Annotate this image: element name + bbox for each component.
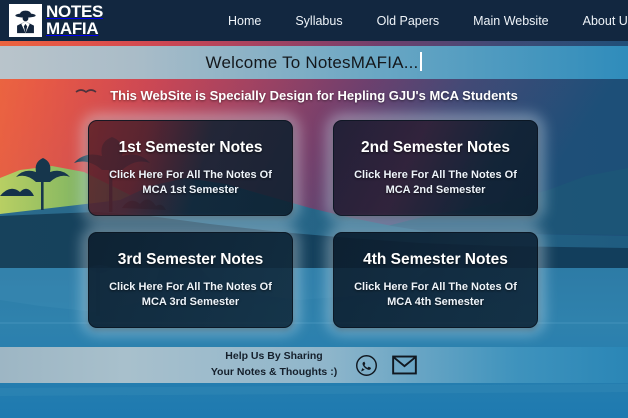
footer: Help Us By Sharing Your Notes & Thoughts…: [0, 347, 628, 383]
welcome-headline: Welcome To NotesMAFIA...: [206, 52, 423, 73]
card-title: 3rd Semester Notes: [118, 251, 264, 269]
footer-text-line2: Your Notes & Thoughts :): [211, 365, 337, 381]
page-root: NOTES MAFIA Home Syllabus Old Papers Mai…: [0, 0, 628, 418]
semester-card-grid: 1st Semester Notes Click Here For All Th…: [88, 120, 543, 328]
card-description: Click Here For All The Notes Of MCA 2nd …: [346, 168, 526, 198]
card-description: Click Here For All The Notes Of MCA 4th …: [346, 280, 526, 310]
card-description: Click Here For All The Notes Of MCA 3rd …: [101, 280, 281, 310]
nav-item-syllabus[interactable]: Syllabus: [295, 14, 342, 28]
card-description: Click Here For All The Notes Of MCA 1st …: [101, 168, 281, 198]
nav-item-home[interactable]: Home: [228, 14, 261, 28]
nav-item-main-website[interactable]: Main Website: [473, 14, 549, 28]
nav-item-old-papers[interactable]: Old Papers: [377, 14, 440, 28]
footer-social-icons: [355, 354, 417, 377]
whatsapp-icon[interactable]: [355, 354, 378, 377]
brand-wordmark: NOTES MAFIA: [46, 4, 103, 37]
hero-subtitle: This WebSite is Specially Design for Hep…: [0, 88, 628, 103]
card-title: 2nd Semester Notes: [361, 139, 510, 157]
brand-logo[interactable]: NOTES MAFIA: [9, 4, 103, 37]
semester-card-3[interactable]: 3rd Semester Notes Click Here For All Th…: [88, 232, 293, 328]
nav-item-about-us[interactable]: About Us: [583, 14, 628, 28]
brand-line-mafia: MAFIA: [46, 21, 103, 37]
navbar: NOTES MAFIA Home Syllabus Old Papers Mai…: [0, 0, 628, 41]
typing-caret: [420, 52, 422, 71]
card-title: 4th Semester Notes: [363, 251, 508, 269]
mafia-detective-logo-icon: [9, 4, 42, 37]
email-icon[interactable]: [392, 354, 417, 376]
footer-share-text: Help Us By Sharing Your Notes & Thoughts…: [211, 349, 337, 381]
semester-card-4[interactable]: 4th Semester Notes Click Here For All Th…: [333, 232, 538, 328]
footer-text-line1: Help Us By Sharing: [211, 349, 337, 365]
nav-links: Home Syllabus Old Papers Main Website Ab…: [228, 0, 628, 41]
card-title: 1st Semester Notes: [119, 139, 263, 157]
semester-card-2[interactable]: 2nd Semester Notes Click Here For All Th…: [333, 120, 538, 216]
welcome-headline-text: Welcome To NotesMAFIA...: [206, 53, 419, 72]
semester-card-1[interactable]: 1st Semester Notes Click Here For All Th…: [88, 120, 293, 216]
welcome-banner: Welcome To NotesMAFIA...: [0, 46, 628, 79]
